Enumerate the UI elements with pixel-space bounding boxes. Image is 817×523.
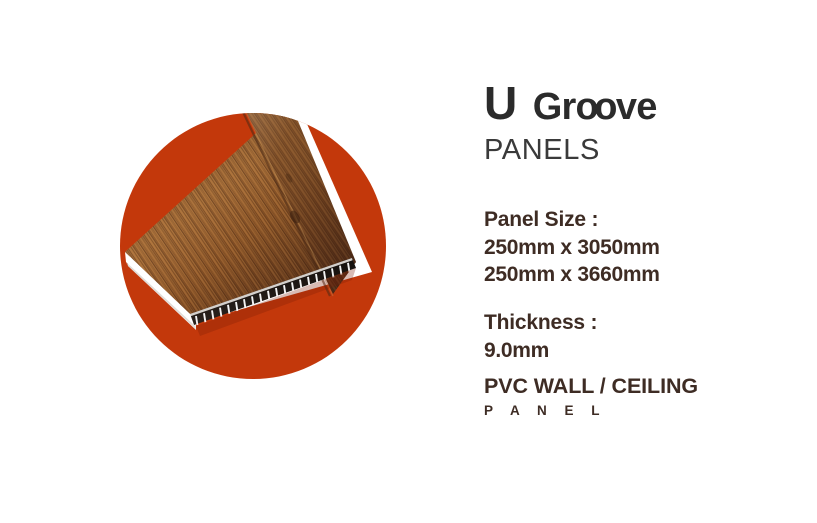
spec-label-thickness: Thickness : [484, 309, 660, 337]
spec-value-panel-size-2: 250mm x 3660mm [484, 261, 660, 289]
brand-name-line: U Groove [484, 80, 657, 126]
spec-label-panel-size: Panel Size : [484, 206, 660, 234]
spec-group-thickness: Thickness : 9.0mm [484, 309, 660, 364]
product-category-title: PVC WALL / CEILING [484, 375, 698, 399]
brand-name: Groove [533, 88, 657, 126]
brand-initial: U [484, 80, 517, 126]
brand-lockup: U Groove PANELS [484, 80, 657, 165]
brand-subtitle: PANELS [484, 136, 657, 165]
pvc-panel-illustration [0, 0, 460, 523]
brand-name-part1: Gr [533, 86, 576, 128]
spec-value-thickness: 9.0mm [484, 337, 660, 365]
product-category-block: PVC WALL / CEILING P A N E L [484, 375, 698, 418]
spec-value-panel-size-1: 250mm x 3050mm [484, 234, 660, 262]
spec-group-panel-size: Panel Size : 250mm x 3050mm 250mm x 3660… [484, 206, 660, 289]
product-category-subtitle: P A N E L [484, 404, 698, 419]
brand-name-part2: ve [616, 86, 657, 128]
specifications-block: Panel Size : 250mm x 3050mm 250mm x 3660… [484, 206, 660, 385]
product-visual [0, 0, 460, 523]
info-column: U Groove PANELS Panel Size : 250mm x 305… [484, 0, 804, 523]
brand-name-ligature: oo [575, 86, 612, 128]
